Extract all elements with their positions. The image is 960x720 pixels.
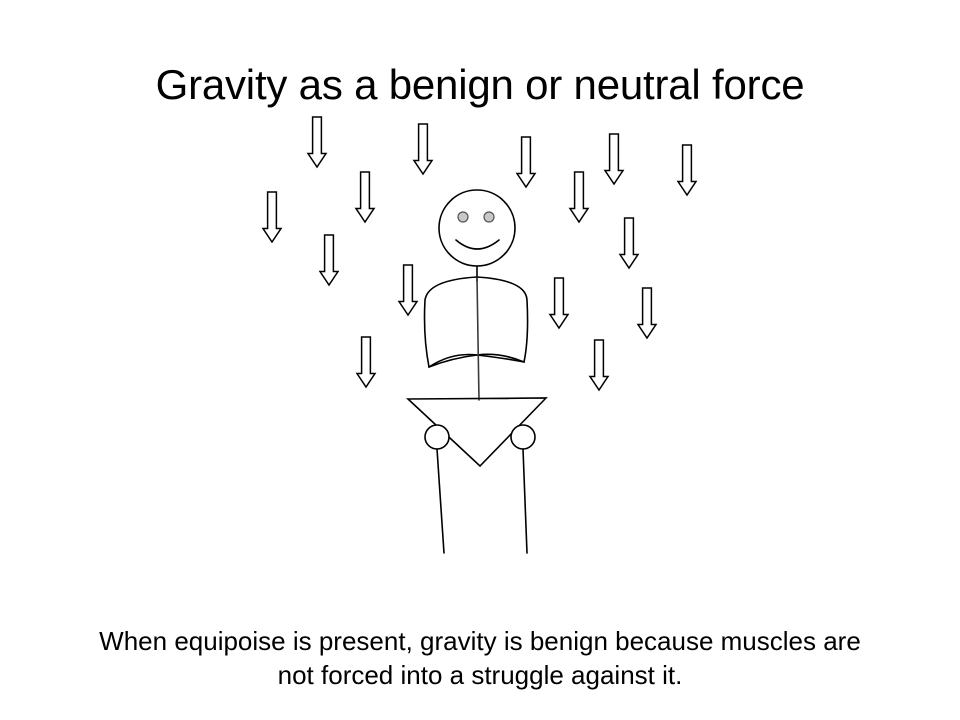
slide-canvas: Gravity as a benign or neutral force bbox=[0, 0, 960, 720]
left-eye-icon bbox=[458, 212, 468, 222]
left-leg-line bbox=[437, 449, 444, 553]
gravity-arrow bbox=[320, 235, 338, 285]
gravity-arrow bbox=[620, 218, 638, 268]
gravity-arrow bbox=[356, 172, 374, 222]
left-hip-joint-icon bbox=[425, 425, 449, 449]
gravity-arrow bbox=[357, 337, 375, 387]
gravity-arrow bbox=[570, 172, 588, 222]
right-eye-icon bbox=[484, 212, 494, 222]
stick-figure bbox=[408, 190, 546, 553]
slide-caption: When equipoise is present, gravity is be… bbox=[80, 624, 880, 693]
gravity-arrow bbox=[605, 134, 623, 184]
gravity-arrow bbox=[414, 124, 432, 174]
spine-center-line bbox=[477, 278, 479, 400]
gravity-arrow bbox=[638, 288, 656, 338]
illustration-svg bbox=[0, 95, 960, 575]
right-leg-line bbox=[523, 449, 527, 553]
gravity-arrow bbox=[399, 265, 417, 315]
head-icon bbox=[439, 190, 515, 266]
gravity-arrow bbox=[678, 145, 696, 195]
gravity-arrow bbox=[517, 137, 535, 187]
gravity-arrow bbox=[550, 278, 568, 328]
gravity-arrow bbox=[263, 192, 281, 242]
smile-icon bbox=[456, 240, 499, 249]
torso-shape bbox=[425, 277, 528, 367]
gravity-arrow bbox=[308, 117, 326, 167]
gravity-arrow-field bbox=[263, 117, 696, 390]
gravity-arrow bbox=[590, 340, 608, 390]
right-hip-joint-icon bbox=[511, 425, 535, 449]
stick-figure-illustration bbox=[0, 95, 960, 575]
